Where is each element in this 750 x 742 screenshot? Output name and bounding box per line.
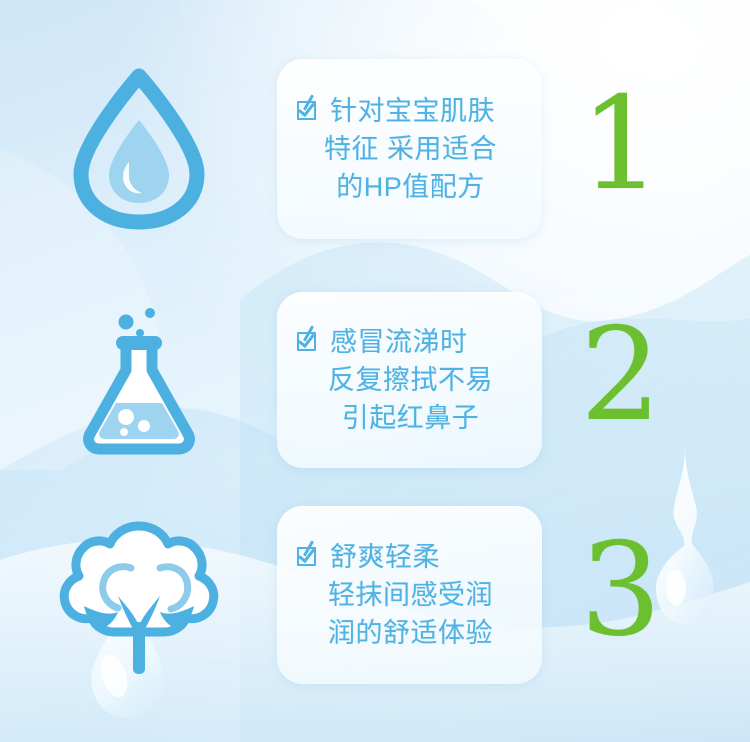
checked-box-icon	[297, 99, 320, 122]
feature-1-icon-cell	[0, 46, 277, 252]
feature-1-line-2: 特征 采用适合	[293, 130, 528, 168]
feature-2-line-3: 引起红鼻子	[293, 399, 528, 437]
feature-2-number: 2	[580, 312, 661, 440]
feature-1-line-1-row: 针对宝宝肌肤	[293, 92, 528, 130]
feature-2-line-1: 感冒流涕时	[330, 327, 468, 357]
feature-3-text: 舒爽轻柔 轻抹间感受润 润的舒适体验	[293, 538, 528, 653]
feature-2-number-cell: 2	[542, 277, 750, 483]
lab-flask-icon	[74, 300, 204, 460]
feature-3-line-1-row: 舒爽轻柔	[293, 538, 528, 576]
feature-2-line-1-row: 感冒流涕时	[293, 323, 528, 361]
checked-box-icon	[297, 545, 320, 568]
feature-3-number-cell: 3	[542, 492, 750, 698]
feature-1-text: 针对宝宝肌肤 特征 采用适合 的HP值配方	[293, 92, 528, 207]
feature-2-card: 感冒流涕时 反复擦拭不易 引起红鼻子	[277, 292, 542, 468]
feature-2-line-2: 反复擦拭不易	[293, 361, 528, 399]
feature-1-number-cell: 1	[542, 46, 750, 252]
feature-2-text: 感冒流涕时 反复擦拭不易 引起红鼻子	[293, 323, 528, 438]
feature-1-line-1: 针对宝宝肌肤	[330, 96, 495, 126]
feature-1-card: 针对宝宝肌肤 特征 采用适合 的HP值配方	[277, 59, 542, 239]
feature-row-2: 感冒流涕时 反复擦拭不易 引起红鼻子 2	[0, 277, 750, 483]
feature-3-line-1: 舒爽轻柔	[330, 542, 440, 572]
feature-1-line-3: 的HP值配方	[293, 168, 528, 206]
cotton-boll-icon	[56, 512, 222, 678]
feature-row-1: 针对宝宝肌肤 特征 采用适合 的HP值配方 1	[0, 46, 750, 252]
feature-3-number: 3	[580, 527, 661, 655]
feature-3-card: 舒爽轻柔 轻抹间感受润 润的舒适体验	[277, 506, 542, 684]
feature-3-line-3: 润的舒适体验	[293, 614, 528, 652]
feature-row-3: 舒爽轻柔 轻抹间感受润 润的舒适体验 3	[0, 492, 750, 698]
feature-2-icon-cell	[0, 277, 277, 483]
feature-rows: 针对宝宝肌肤 特征 采用适合 的HP值配方 1	[0, 0, 750, 742]
feature-1-number: 1	[580, 81, 661, 209]
water-droplet-icon	[73, 70, 205, 228]
checked-box-icon	[297, 330, 320, 353]
promo-poster: 针对宝宝肌肤 特征 采用适合 的HP值配方 1	[0, 0, 750, 742]
feature-3-icon-cell	[0, 492, 277, 698]
feature-3-line-2: 轻抹间感受润	[293, 576, 528, 614]
